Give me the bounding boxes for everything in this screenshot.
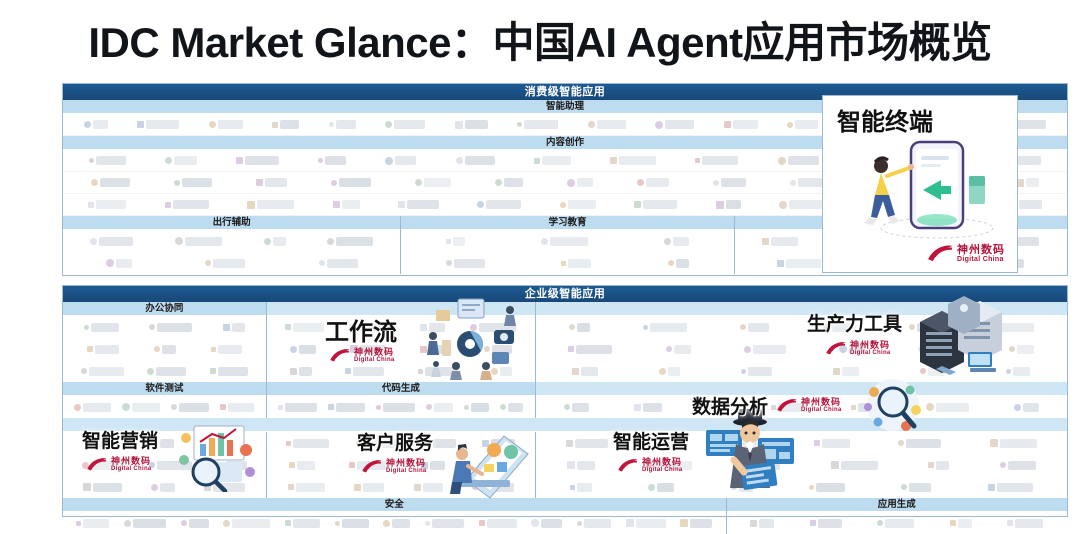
logo-row — [63, 512, 726, 534]
vendor-logo — [211, 345, 242, 354]
brand-name-cn: 神州数码 — [801, 398, 842, 407]
vendor-logo — [106, 259, 132, 268]
vendor-logo — [205, 259, 245, 268]
band-label-app-generation: 应用生成 — [727, 498, 1067, 512]
brand-name-en: Digital China — [850, 350, 891, 356]
vendor-logo — [695, 156, 738, 165]
vendor-logo — [950, 519, 972, 528]
vendor-logo — [181, 519, 209, 528]
swoosh-icon — [927, 244, 954, 263]
vendor-logo — [174, 178, 212, 187]
vendor-logo — [991, 323, 1034, 332]
vendor-logo — [398, 200, 439, 209]
vendor-logo — [247, 200, 294, 209]
vendor-logo — [327, 237, 373, 246]
vendor-logo — [426, 403, 453, 412]
callout-smart-operations: 智能运营 神州数码 Digital China — [613, 427, 689, 473]
vendor-logo — [256, 178, 287, 187]
swoosh-icon — [329, 348, 351, 363]
vendor-logo — [286, 439, 329, 448]
logo-row — [267, 396, 535, 418]
vendor-logo — [84, 323, 119, 332]
vendor-logo — [206, 439, 244, 448]
callout-workflow: 工作流 神州数码 Digital China — [325, 312, 397, 363]
vendor-logo — [76, 519, 109, 528]
vendor-logo — [716, 200, 741, 209]
logo-row — [63, 396, 266, 418]
vendor-logo — [264, 237, 286, 246]
vendor-logo — [84, 120, 108, 129]
vendor-logo — [534, 156, 571, 165]
vendor-logo — [209, 120, 243, 129]
vendor-logo — [223, 323, 245, 332]
vendor-logo — [151, 483, 175, 492]
vendor-logo — [223, 519, 270, 528]
logo-row — [63, 230, 400, 252]
vendor-logo — [171, 403, 209, 412]
logo-row — [536, 338, 1067, 360]
vendor-logo — [779, 200, 827, 209]
vendor-logo — [331, 178, 371, 187]
vendor-logo — [329, 120, 356, 129]
callout-operations-label: 智能运营 — [613, 427, 689, 454]
vendor-logo — [988, 483, 1033, 492]
vendor-logo — [898, 439, 941, 448]
brand-name-cn: 神州数码 — [354, 348, 395, 357]
logo-row — [267, 476, 535, 498]
swoosh-icon — [776, 398, 798, 413]
vendor-logo — [446, 237, 465, 246]
brand-name-en: Digital China — [354, 357, 395, 363]
brand-name-cn: 神州数码 — [850, 341, 891, 350]
band-label-code-generation: 代码生成 — [267, 382, 535, 396]
swoosh-icon — [825, 341, 847, 356]
vendor-logo — [175, 237, 222, 246]
vendor-logo — [318, 156, 346, 165]
callout-data-analysis-label: 数据分析 — [692, 392, 768, 419]
vendor-logo — [668, 259, 689, 268]
vendor-logo — [577, 519, 611, 528]
band-label-office-collab: 办公协同 — [63, 302, 266, 316]
vendor-logo — [809, 483, 845, 492]
vendor-logo — [500, 403, 523, 412]
vendor-logo — [659, 367, 680, 376]
vendor-logo — [666, 345, 691, 354]
vendor-logo — [290, 367, 312, 376]
band-label-blank-2 — [536, 302, 1067, 316]
logo-row — [401, 252, 733, 274]
vendor-logo — [220, 403, 254, 412]
vendor-logo — [560, 200, 596, 209]
vendor-logo — [81, 367, 124, 376]
digital-china-logo: 神州数码 Digital China — [776, 398, 842, 413]
band-label-blank-1 — [267, 302, 535, 316]
vendor-logo — [482, 439, 515, 448]
vendor-logo — [124, 519, 166, 528]
vendor-logo — [1000, 461, 1036, 470]
logo-row — [63, 252, 400, 274]
brand-name-en: Digital China — [386, 468, 427, 474]
vendor-logo — [1014, 403, 1039, 412]
logo-row — [267, 360, 535, 382]
vendor-logo — [335, 519, 369, 528]
band-label-blank-4 — [63, 418, 1067, 432]
brand-name-en: Digital China — [801, 407, 842, 413]
vendor-logo — [345, 367, 384, 376]
vendor-logo — [568, 345, 612, 354]
callout-customer-service: 客户服务 神州数码 Digital China — [357, 428, 433, 474]
vendor-logo — [744, 345, 786, 354]
logo-row — [536, 476, 1067, 498]
callout-smart-terminal: 智能终端 — [837, 102, 933, 137]
vendor-logo — [1016, 178, 1039, 187]
vendor-logo — [385, 120, 425, 129]
vendor-logo — [1006, 367, 1030, 376]
vendor-logo — [165, 200, 209, 209]
vendor-logo — [149, 323, 192, 332]
vendor-logo — [491, 367, 512, 376]
vendor-logo — [637, 178, 669, 187]
vendor-logo — [122, 403, 160, 412]
vendor-logo — [455, 120, 488, 129]
vendor-logo — [91, 178, 130, 187]
enterprise-row-3 — [63, 418, 1067, 498]
column-label-education: 学习教育 — [401, 216, 733, 230]
brand-name-cn: 神州数码 — [386, 459, 427, 468]
logo-row — [401, 230, 733, 252]
vendor-logo — [87, 345, 119, 354]
vendor-logo — [724, 120, 758, 129]
brand-name-en: Digital China — [957, 256, 1005, 263]
vendor-logo — [420, 345, 450, 354]
column-label-travel: 出行辅助 — [63, 216, 400, 230]
vendor-logo — [566, 439, 608, 448]
enterprise-section-header: 企业级智能应用 — [63, 286, 1067, 302]
vendor-logo — [928, 461, 949, 470]
vendor-logo — [446, 259, 485, 268]
vendor-logo — [278, 403, 317, 412]
enterprise-row-4: 安全 应用生成 — [63, 498, 1067, 534]
logo-row — [267, 316, 535, 338]
logo-row — [63, 316, 266, 338]
callout-smart-marketing: 智能营销 神州数码 Digital China — [82, 426, 158, 472]
digital-china-logo: 神州数码 Digital China — [617, 458, 683, 473]
vendor-logo — [655, 120, 694, 129]
vendor-logo — [569, 323, 590, 332]
brand-name-cn: 神州数码 — [957, 245, 1005, 256]
vendor-logo — [165, 156, 197, 165]
logo-row — [536, 316, 1067, 338]
vendor-logo — [456, 156, 495, 165]
vendor-logo — [290, 345, 316, 354]
logo-row — [63, 338, 266, 360]
vendor-logo — [567, 461, 595, 470]
vendor-logo — [833, 367, 859, 376]
vendor-logo — [901, 483, 931, 492]
vendor-logo — [777, 259, 821, 268]
callout-marketing-label: 智能营销 — [82, 426, 158, 453]
vendor-logo — [272, 120, 299, 129]
logo-row — [63, 360, 266, 382]
vendor-logo — [734, 439, 766, 448]
vendor-logo — [88, 200, 126, 209]
vendor-logo — [479, 519, 517, 528]
callout-data-analysis: 数据分析 神州数码 Digital China — [692, 392, 842, 419]
digital-china-logo: 神州数码 Digital China — [825, 341, 891, 356]
vendor-logo — [810, 519, 842, 528]
vendor-logo — [147, 367, 186, 376]
vendor-logo — [204, 483, 245, 492]
vendor-logo — [634, 200, 677, 209]
vendor-logo — [333, 200, 360, 209]
vendor-logo — [713, 178, 746, 187]
vendor-logo — [926, 403, 969, 412]
vendor-logo — [285, 323, 324, 332]
enterprise-row-1: 办公协同 — [63, 302, 1067, 382]
vendor-logo — [464, 403, 489, 412]
vendor-logo — [909, 323, 938, 332]
vendor-logo — [643, 323, 687, 332]
vendor-logo — [289, 461, 315, 470]
vendor-logo — [877, 519, 914, 528]
logo-row — [536, 360, 1067, 382]
vendor-logo — [484, 345, 512, 354]
digital-china-logo: 神州数码 Digital China — [361, 459, 427, 474]
enterprise-section: 企业级智能应用 办公协同 软件测试 代码生成 — [62, 285, 1068, 517]
vendor-logo — [89, 156, 126, 165]
vendor-logo — [664, 237, 689, 246]
vendor-logo — [561, 259, 591, 268]
callout-productivity-label: 生产力工具 — [807, 309, 902, 336]
digital-china-logo: 神州数码 Digital China — [927, 244, 1005, 263]
vendor-logo — [319, 259, 358, 268]
vendor-logo — [236, 156, 279, 165]
vendor-logo — [354, 483, 384, 492]
vendor-logo — [572, 367, 598, 376]
band-label-security: 安全 — [63, 498, 726, 512]
vendor-logo — [610, 156, 656, 165]
vendor-logo — [588, 120, 626, 129]
swoosh-icon — [86, 457, 108, 472]
vendor-logo — [920, 367, 945, 376]
vendor-logo — [477, 200, 521, 209]
vendor-logo — [626, 519, 666, 528]
vendor-logo — [750, 519, 774, 528]
vendor-logo — [741, 367, 772, 376]
vendor-logo — [918, 345, 956, 354]
brand-name-en: Digital China — [111, 466, 152, 472]
vendor-logo — [787, 120, 818, 129]
vendor-logo — [383, 519, 410, 528]
callout-customer-service-label: 客户服务 — [357, 428, 433, 455]
vendor-logo — [740, 323, 769, 332]
vendor-logo — [285, 519, 320, 528]
vendor-logo — [831, 461, 878, 470]
swoosh-icon — [361, 459, 383, 474]
brand-name-cn: 神州数码 — [642, 458, 683, 467]
vendor-logo — [74, 403, 111, 412]
logo-row — [267, 338, 535, 360]
vendor-logo — [137, 120, 179, 129]
vendor-logo — [472, 483, 514, 492]
vendor-logo — [531, 519, 562, 528]
vendor-logo — [541, 237, 588, 246]
vendor-logo — [478, 461, 512, 470]
vendor-logo — [415, 178, 451, 187]
vendor-logo — [470, 323, 516, 332]
brand-name-en: Digital China — [642, 467, 683, 473]
vendor-logo — [328, 403, 365, 412]
vendor-logo — [742, 461, 780, 470]
vendor-logo — [218, 461, 247, 470]
brand-name-cn: 神州数码 — [111, 457, 152, 466]
digital-china-logo: 神州数码 Digital China — [329, 348, 395, 363]
smartphone-illustration — [845, 132, 1015, 242]
vendor-logo — [288, 483, 325, 492]
vendor-logo — [425, 519, 464, 528]
vendor-logo — [567, 178, 593, 187]
vendor-logo — [1009, 345, 1034, 354]
vendor-logo — [762, 237, 798, 246]
callout-workflow-label: 工作流 — [325, 312, 397, 347]
callout-productivity-tools: 生产力工具 神州数码 Digital China — [807, 309, 902, 356]
band-label-software-testing: 软件测试 — [63, 382, 266, 396]
enterprise-row-2: 软件测试 代码生成 — [63, 382, 1067, 418]
vendor-logo — [517, 120, 558, 129]
vendor-logo — [778, 156, 819, 165]
vendor-logo — [154, 345, 176, 354]
vendor-logo — [990, 439, 1037, 448]
vendor-logo — [851, 403, 881, 412]
vendor-logo — [634, 403, 662, 412]
vendor-logo — [648, 483, 674, 492]
vendor-logo — [731, 483, 753, 492]
smart-terminal-panel: 智能终端 神州数码 Digital China — [822, 95, 1018, 273]
vendor-logo — [1007, 519, 1043, 528]
vendor-logo — [814, 439, 850, 448]
vendor-logo — [376, 403, 415, 412]
vendor-logo — [83, 483, 122, 492]
swoosh-icon — [617, 458, 639, 473]
logo-row — [63, 476, 266, 498]
logo-row — [727, 512, 1067, 534]
digital-china-logo: 神州数码 Digital China — [86, 457, 152, 472]
vendor-logo — [564, 403, 589, 412]
vendor-logo — [418, 367, 458, 376]
vendor-logo — [570, 483, 592, 492]
vendor-logo — [420, 323, 445, 332]
vendor-logo — [210, 367, 248, 376]
vendor-logo — [680, 519, 712, 528]
vendor-logo — [495, 178, 523, 187]
vendor-logo — [90, 237, 133, 246]
vendor-logo — [414, 483, 443, 492]
page-title: IDC Market Glance：中国AI Agent应用市场概览 — [0, 8, 1080, 70]
vendor-logo — [385, 156, 416, 165]
